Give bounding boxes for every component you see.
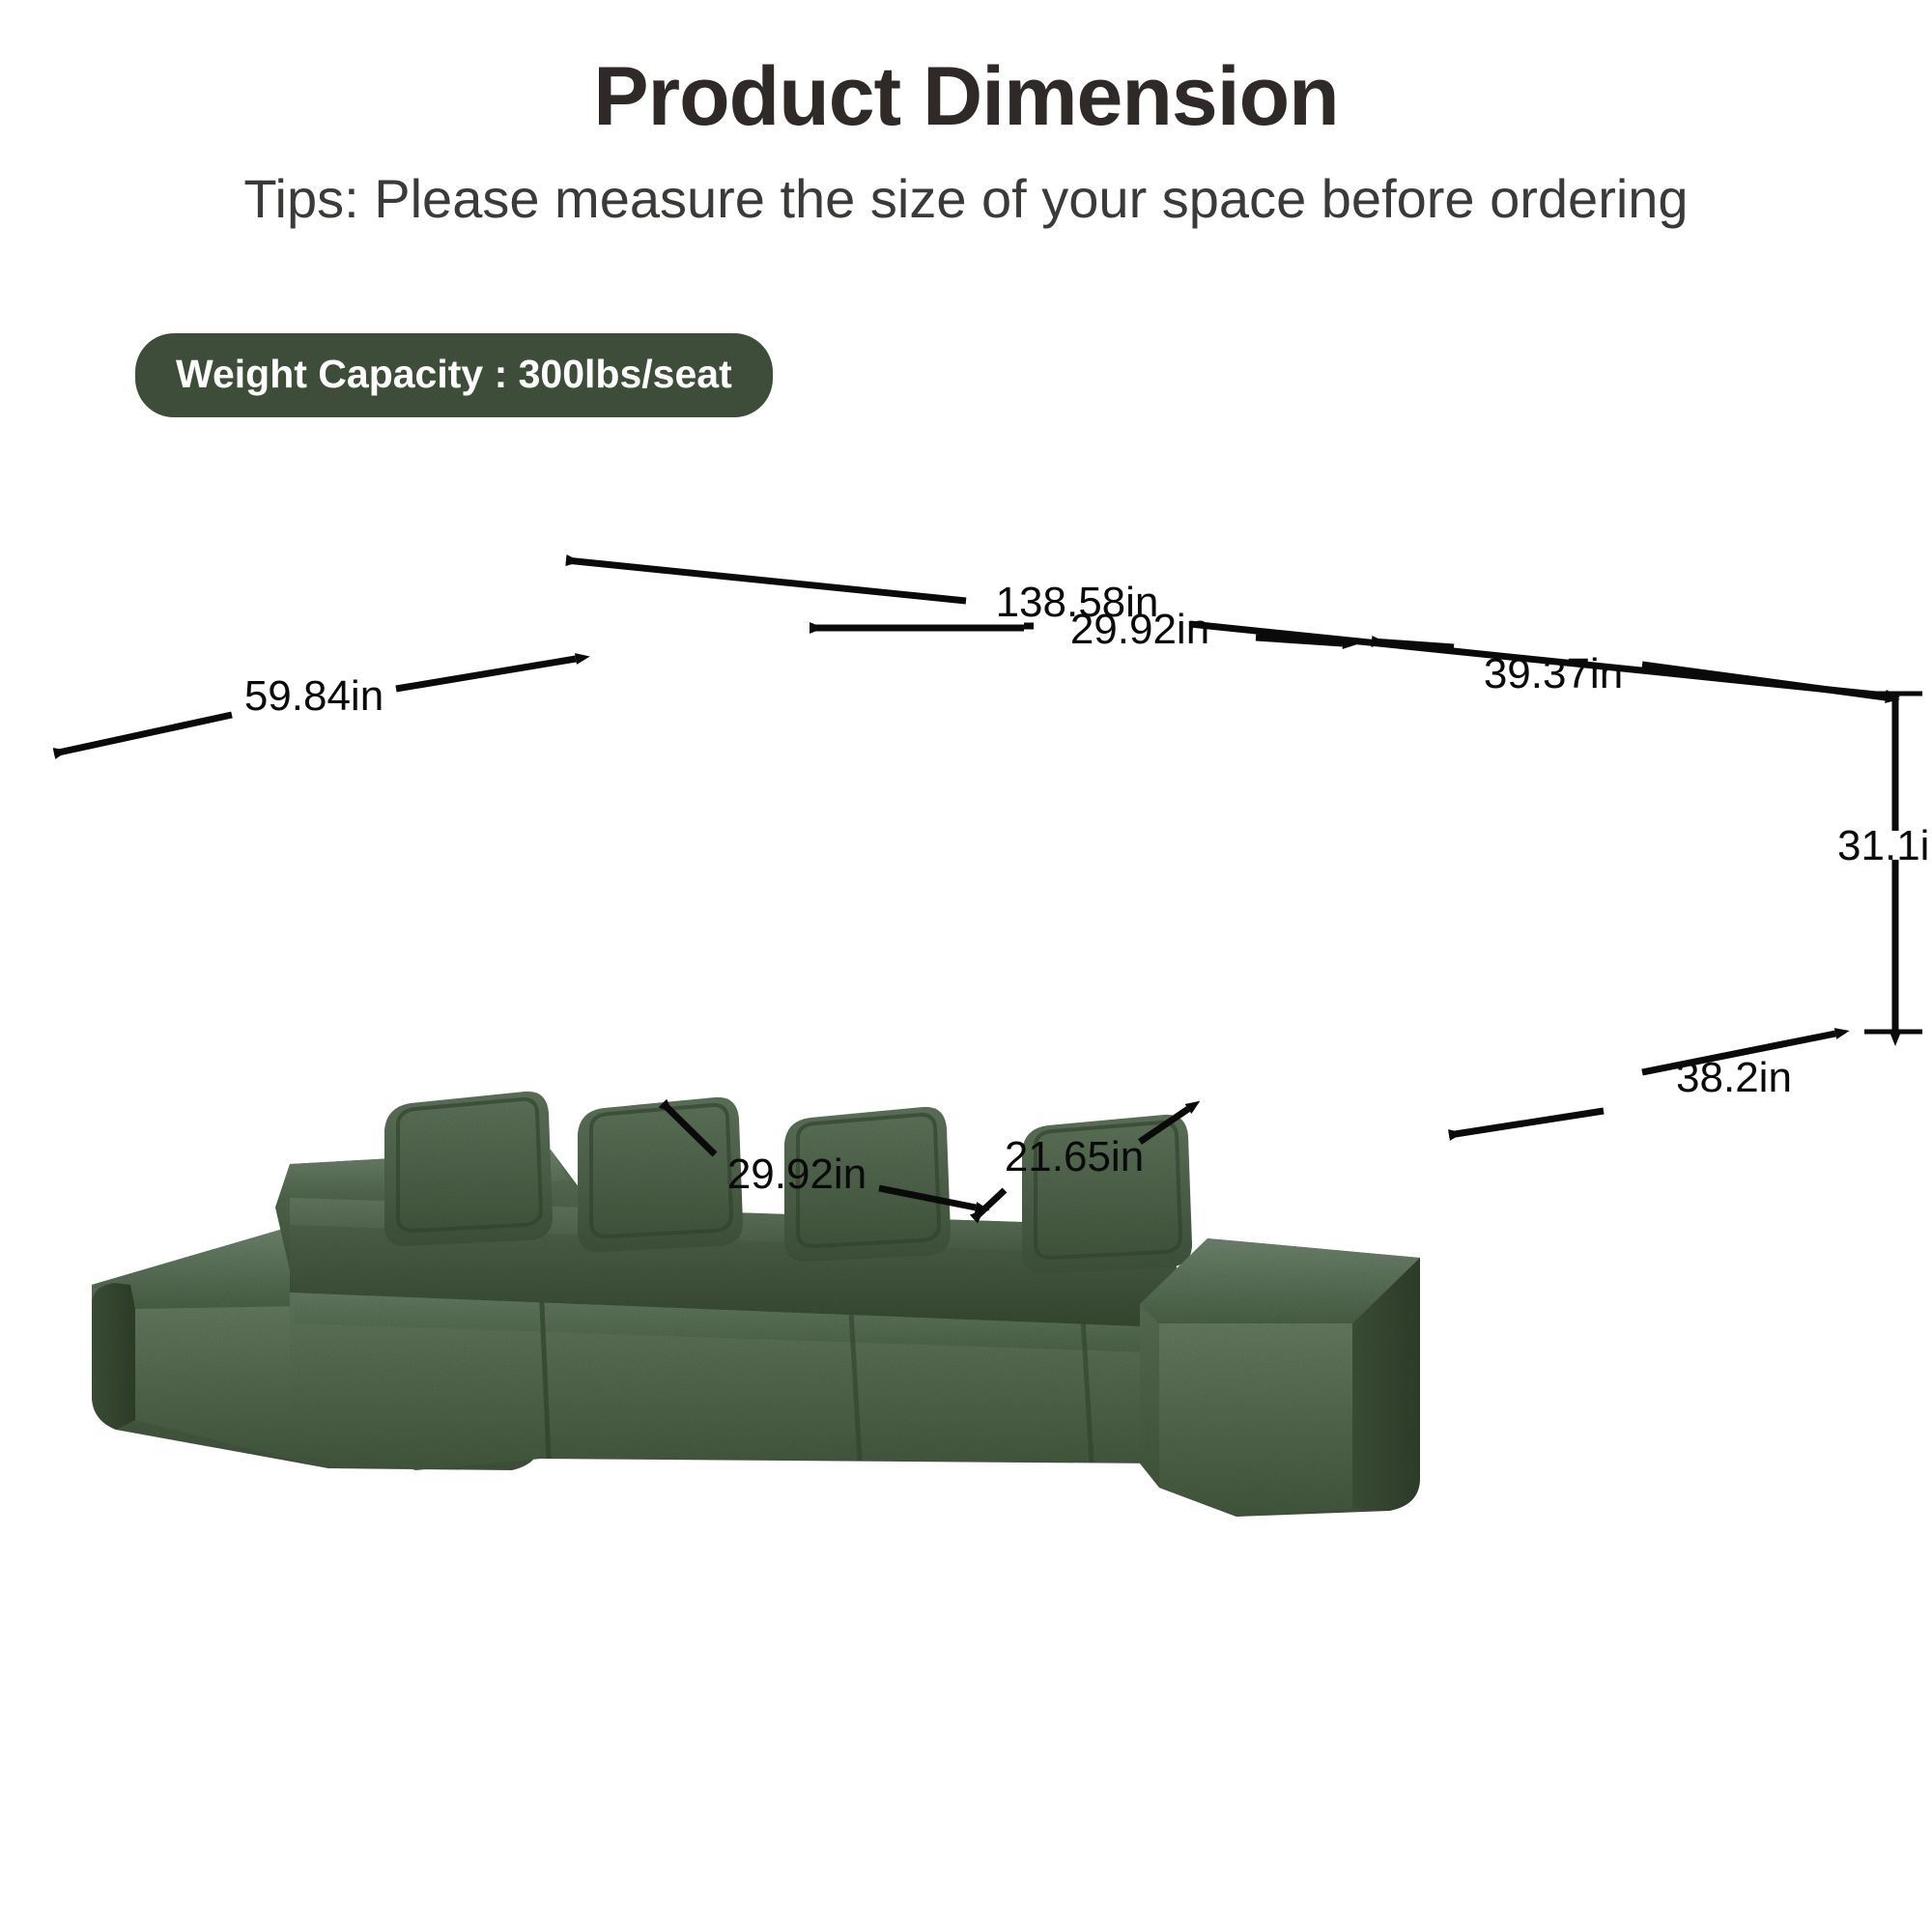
header: Product Dimension Tips: Please measure t… bbox=[0, 0, 1932, 229]
label-arm-width: 10.24in bbox=[1117, 812, 1256, 860]
label-arm-depth: 31.1in bbox=[1273, 798, 1389, 845]
product-dimension-diagram: 138.58in 59.84in 29.92in 39.37in 31.1in … bbox=[0, 454, 1932, 1517]
throw-pillow-1 bbox=[384, 1092, 553, 1246]
dimline-left-depth-b bbox=[396, 659, 576, 689]
page-subtitle: Tips: Please measure the size of your sp… bbox=[0, 140, 1932, 229]
throw-pillow-2 bbox=[578, 1097, 743, 1252]
dimline-arm-depth-right-b bbox=[1449, 1111, 1604, 1135]
label-ottoman-width: 29.92in bbox=[727, 1151, 867, 1198]
label-back-height-right: 22.44in bbox=[1150, 917, 1289, 964]
right-arm-module bbox=[1140, 1238, 1420, 1517]
dimension-lines-white bbox=[280, 689, 1428, 1111]
page-title: Product Dimension bbox=[0, 0, 1932, 140]
dimline-seat-depth-right bbox=[874, 802, 923, 810]
label-overall-depth-left: 59.84in bbox=[244, 672, 384, 720]
dimline-ottoman-depth-left bbox=[974, 1190, 1005, 1219]
badge-row: Weight Capacity : 300lbs/seat bbox=[135, 333, 773, 417]
label-seat-height-mid: 16.93in bbox=[896, 1008, 1036, 1055]
dimline-seat-width-left bbox=[280, 773, 694, 829]
dimline-corner-width-right bbox=[1642, 665, 1886, 697]
label-seat-height-left: 16.93in bbox=[510, 856, 649, 903]
label-arm-depth-right: 38.2in bbox=[1676, 1054, 1792, 1101]
dimline-arm-depth-b bbox=[1401, 813, 1428, 817]
dimline-left-depth-a bbox=[54, 715, 232, 753]
label-module-width-top: 29.92in bbox=[1070, 606, 1209, 653]
label-ottoman-depth: 21.65in bbox=[1005, 1133, 1144, 1180]
weight-capacity-badge: Weight Capacity : 300lbs/seat bbox=[135, 333, 773, 417]
label-corner-module-width: 39.37in bbox=[1484, 650, 1623, 697]
dimension-lines-black bbox=[54, 560, 1922, 1219]
label-overall-height: 31.1in bbox=[1837, 822, 1932, 869]
label-seat-width-inner: 118.11in bbox=[760, 824, 917, 871]
dimline-overall-width-left bbox=[566, 560, 966, 601]
